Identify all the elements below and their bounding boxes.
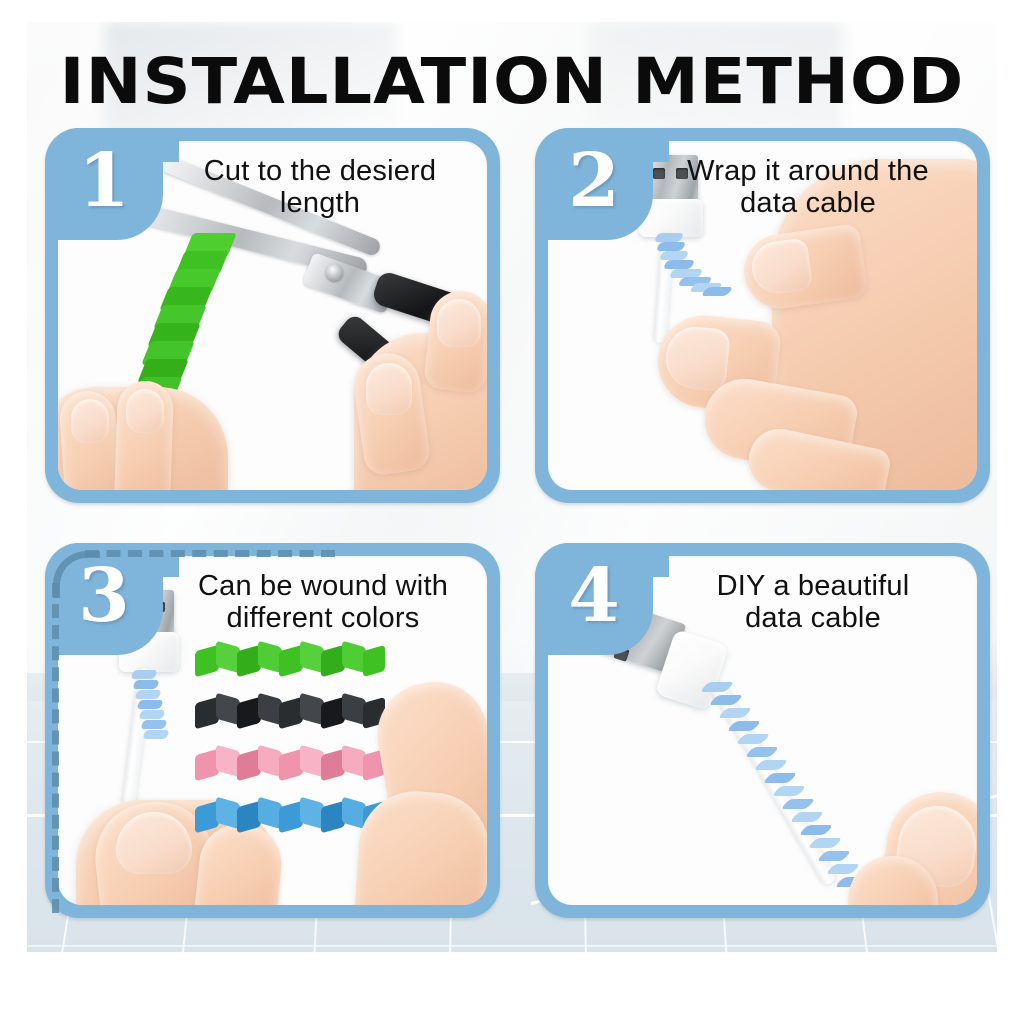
blue-spiral-on-cable [126,670,176,750]
step-number-4: 4 [535,543,653,655]
caption-line-2: data cable [658,602,968,634]
fingernail-thumb-right [366,363,412,415]
scissor-pivot-screw [326,264,343,281]
green-spiral-protector [142,233,234,403]
caption-line-1: Can be wound with [168,570,478,602]
caption-line-1: DIY a beautiful [658,570,968,602]
step-number-3: 3 [45,543,163,655]
page-title: INSTALLATION METHOD [0,50,1024,113]
fingernail-index-right [437,299,481,347]
spiral-swatch-pink [195,748,405,782]
step-panel-2[interactable]: Wrap it around the data cable 2 [535,128,990,503]
caption-line-2: different colors [168,602,478,634]
caption-line-2: length [170,187,470,219]
caption-line-1: Wrap it around the [648,155,968,187]
fingernail-middle-left [126,389,164,433]
spiral-swatch-black [195,696,405,730]
step-3-caption: Can be wound with different colors [168,570,478,635]
step-number-2: 2 [535,128,653,240]
spiral-swatch-green [195,644,405,678]
step-2-caption: Wrap it around the data cable [648,155,968,220]
blue-spiral-on-cable [648,233,743,303]
caption-line-1: Cut to the desierd [170,155,470,187]
infographic-canvas: INSTALLATION METHOD [0,0,1024,1024]
step-4-caption: DIY a beautiful data cable [658,570,968,635]
caption-line-2: data cable [648,187,968,219]
step-panel-3[interactable]: Can be wound with different colors 3 [45,543,500,918]
step-panel-4[interactable]: DIY a beautiful data cable 4 [535,543,990,918]
step-1-caption: Cut to the desierd length [170,155,470,220]
step-number-1: 1 [45,128,163,240]
fingernail-index-left [71,399,109,443]
steps-grid: Cut to the desierd length 1 [45,128,990,918]
step-panel-1[interactable]: Cut to the desierd length 1 [45,128,500,503]
